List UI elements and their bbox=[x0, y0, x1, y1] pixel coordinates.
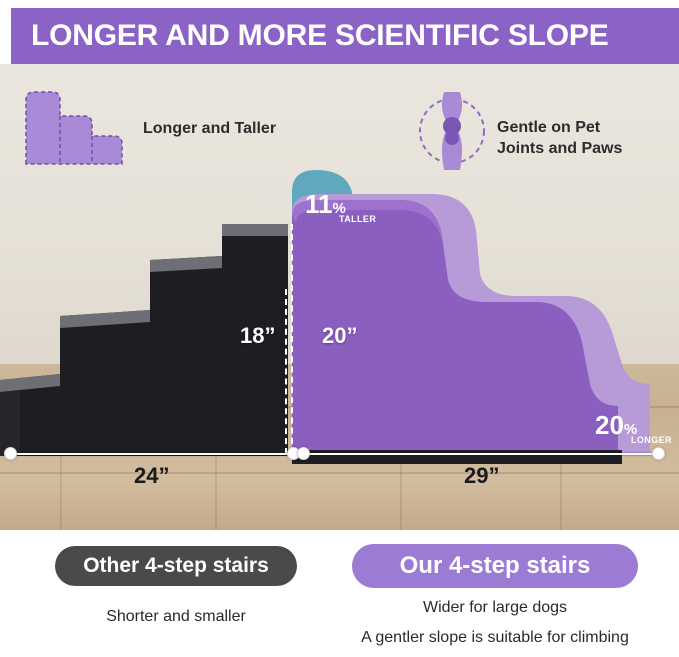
badge-longer-sub: LONGER bbox=[631, 435, 672, 445]
other-stairs-pill: Other 4-step stairs bbox=[55, 546, 297, 586]
dimension-endpoint-right bbox=[652, 447, 665, 460]
badge-taller: 11% TALLER bbox=[305, 191, 371, 224]
badge-taller-number: 11 bbox=[305, 189, 333, 219]
page-title: LONGER AND MORE SCIENTIFIC SLOPE bbox=[31, 19, 609, 53]
purple-width-label: 29” bbox=[464, 463, 499, 489]
our-stairs-pill: Our 4-step stairs bbox=[352, 544, 638, 588]
badge-longer-number: 20 bbox=[595, 410, 624, 440]
black-height-dashed-line bbox=[285, 289, 287, 454]
badge-longer: 20% LONGER bbox=[595, 412, 672, 445]
purple-width-dimension-line bbox=[300, 453, 655, 455]
black-width-dimension-line bbox=[10, 453, 290, 455]
header-banner: LONGER AND MORE SCIENTIFIC SLOPE bbox=[11, 8, 679, 64]
product-comparison-scene: Longer and Taller Gentle on Pet Joints a… bbox=[0, 64, 679, 530]
other-stairs-illustration bbox=[0, 64, 679, 530]
divider-dashed-line bbox=[291, 224, 293, 454]
dimension-endpoint-mid-b bbox=[297, 447, 310, 460]
other-stairs-caption: Shorter and smaller bbox=[55, 608, 297, 626]
our-stairs-caption-line1: Wider for large dogs bbox=[330, 599, 660, 617]
purple-height-label: 20” bbox=[322, 323, 357, 349]
dimension-endpoint-left bbox=[4, 447, 17, 460]
badge-taller-sub: TALLER bbox=[339, 214, 371, 224]
black-width-label: 24” bbox=[134, 463, 169, 489]
other-stairs-pill-label: Other 4-step stairs bbox=[83, 554, 269, 578]
our-stairs-caption-line2: A gentler slope is suitable for climbing bbox=[315, 629, 675, 647]
black-height-label: 18” bbox=[240, 323, 275, 349]
our-stairs-pill-label: Our 4-step stairs bbox=[400, 552, 591, 580]
